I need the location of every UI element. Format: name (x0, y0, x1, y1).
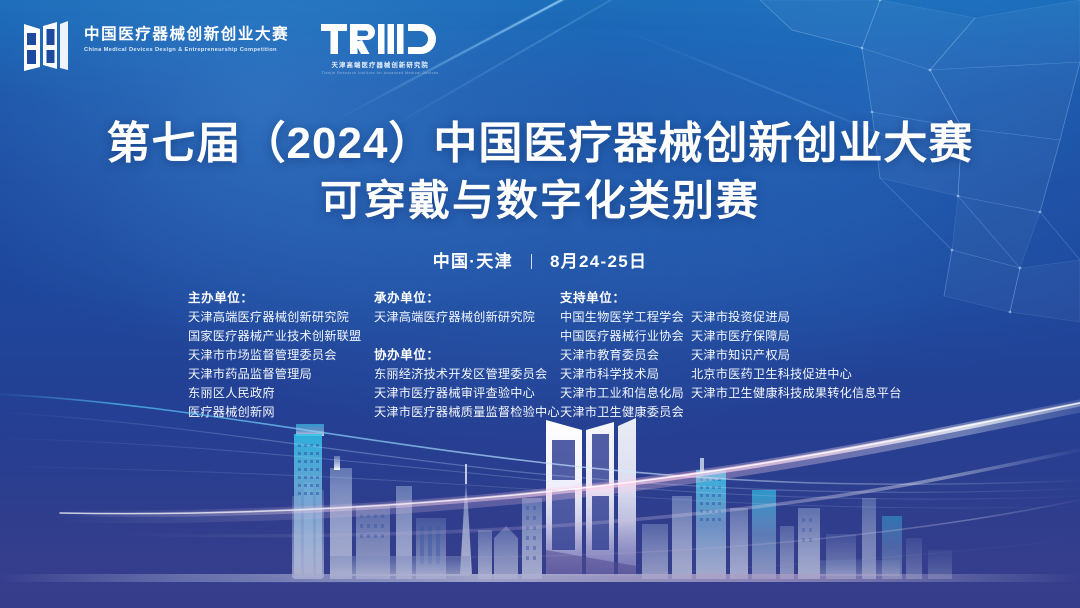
cmd-logo-title-cn: 中国医疗器械创新创业大赛 (84, 26, 289, 44)
org-item: 国家医疗器械产业技术创新联盟 (188, 327, 374, 346)
open-door-logo-icon (22, 20, 70, 72)
org-subcolumn-offset (691, 289, 901, 308)
org-item: 天津高端医疗器械创新研究院 (374, 308, 560, 327)
org-item: 天津高端医疗器械创新研究院 (188, 308, 374, 327)
org-item: 天津市市场监督管理委员会 (188, 346, 374, 365)
event-location: 中国·天津 (433, 252, 513, 271)
org-heading: 协办单位： (374, 346, 560, 365)
trimd-logo-title-cn: 天津高端医疗器械创新研究院 (332, 60, 429, 69)
trimd-logo-title-en: Tianjin Research Institute for Advanced … (322, 71, 439, 75)
org-item: 天津市投资促进局 (691, 308, 901, 327)
header-logos: 中国医疗器械创新创业大赛 China Medical Devices Desig… (22, 20, 439, 75)
page-title: 第七届（2024）中国医疗器械创新创业大赛 (0, 118, 1080, 170)
bottom-fade-overlay (0, 488, 1080, 608)
cmd-logo-title-en: China Medical Devices Design & Entrepren… (84, 47, 293, 54)
org-item: 天津市知识产权局 (691, 346, 901, 365)
cmd-logo-text: 中国医疗器械创新创业大赛 China Medical Devices Desig… (84, 20, 289, 54)
org-heading: 主办单位： (188, 289, 374, 308)
event-meta: 中国·天津 8月24-25日 (0, 247, 1080, 272)
org-group-spacer (374, 327, 560, 346)
org-item: 天津市教育委员会 (560, 346, 691, 365)
event-poster: 中国医疗器械创新创业大赛 China Medical Devices Desig… (0, 0, 1080, 608)
meta-divider (531, 254, 532, 269)
event-dates: 8月24-25日 (550, 252, 647, 271)
title-block: 第七届（2024）中国医疗器械创新创业大赛 可穿戴与数字化类别赛 中国·天津 8… (0, 118, 1080, 272)
org-item: 中国医疗器械行业协会 (560, 327, 691, 346)
org-item: 中国生物医学工程学会 (560, 308, 691, 327)
page-subtitle: 可穿戴与数字化类别赛 (0, 176, 1080, 226)
org-heading: 支持单位： (560, 289, 691, 308)
org-heading: 承办单位： (374, 289, 560, 308)
trimd-logo: 天津高端医疗器械创新研究院 Tianjin Research Institute… (321, 20, 439, 75)
trimd-wordmark-icon (321, 22, 439, 56)
org-item: 天津市医疗保障局 (691, 327, 901, 346)
